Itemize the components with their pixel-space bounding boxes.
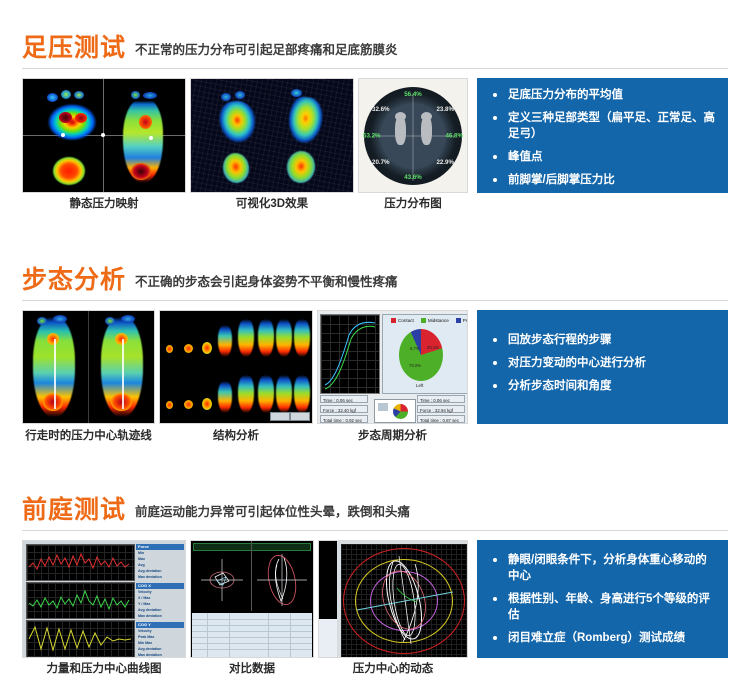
section-2-row: 行走时的压力中心轨迹线: [0, 310, 750, 425]
caption-cop-dynamics: 压力中心的动态: [318, 660, 468, 676]
pie-left-caption: Left: [416, 383, 423, 388]
bullet-item: 对压力变动的中心进行分析: [493, 355, 718, 371]
feature-list-gait: 回放步态行程的步骤 对压力变动的中心进行分析 分析步态时间和角度: [477, 310, 728, 424]
caption-static-pressure-map: 静态压力映射: [22, 195, 186, 211]
legend-midstance: Midstance: [421, 318, 449, 323]
section-vestibular-test: 前庭测试 前庭运动能力异常可引起体位性头晕，跌倒和头痛: [0, 484, 750, 658]
info-left-force: Force : 32.40 kgf: [320, 405, 368, 413]
bullet-item: 静眼/闭眼条件下，分析身体重心移动的中心: [493, 552, 718, 584]
dial-label-top-left: 32.6%: [372, 106, 390, 113]
bullet-item: 峰值点: [493, 149, 718, 165]
image-static-pressure-map[interactable]: [22, 78, 186, 193]
table-header-force: Force: [136, 544, 184, 550]
bullet-item: 回放步态行程的步骤: [493, 332, 718, 348]
table-row-label: Avg deviation: [136, 569, 161, 573]
image-force-cop-curves[interactable]: Force Min Max Avg Avg deviation Max devi…: [22, 540, 186, 658]
caption-cop-trajectory: 行走时的压力中心轨迹线: [22, 427, 155, 443]
image-structure-analysis[interactable]: [159, 310, 313, 424]
dial-label-left: 53.2%: [363, 132, 381, 139]
pie-left-midstance: 73.2%: [409, 363, 421, 368]
legend-propulsion: Propulsion: [456, 318, 468, 323]
section-3-header: 前庭测试 前庭运动能力异常可引起体位性头晕，跌倒和头痛: [0, 484, 750, 524]
table-row-label: Max deviation: [136, 653, 162, 657]
section-3-row: Force Min Max Avg Avg deviation Max devi…: [0, 540, 750, 658]
image-pressure-distribution[interactable]: 56.4% 43.6% 53.2% 46.8% 32.6% 23.8% 20.7…: [358, 78, 468, 193]
image-cop-dynamics[interactable]: [318, 540, 468, 658]
pie-left-contact: 20.1%: [427, 345, 439, 350]
section-1-header: 足压测试 不正常的压力分布可引起足部疼痛和足底筋膜炎: [0, 22, 750, 62]
caption-comparison-data: 对比数据: [190, 660, 314, 676]
table-row-label: Max deviation: [136, 614, 162, 618]
table-row-label: Min: [136, 551, 144, 555]
pie-left-propulsion: 6.7%: [410, 346, 420, 351]
feature-list-vestibular: 静眼/闭眼条件下，分析身体重心移动的中心 根据性别、年龄、身高进行5个等级的评估…: [477, 540, 728, 658]
thumbnail-preview[interactable]: [374, 399, 416, 423]
table-header-cogy: COG Y: [136, 622, 184, 628]
image-cop-trajectory[interactable]: [22, 310, 155, 424]
table-header-cogx: COG X: [136, 583, 184, 589]
section-foot-pressure: 足压测试 不正常的压力分布可引起足部疼痛和足底筋膜炎: [0, 22, 750, 193]
section-gait-analysis: 步态分析 不正确的步态会引起身体姿势不平衡和慢性疼痛: [0, 254, 750, 425]
section-1-divider: [22, 68, 728, 69]
section-2-divider: [22, 300, 728, 301]
table-row-label: X / Max: [136, 596, 150, 600]
caption-structure-analysis: 结构分析: [159, 427, 313, 443]
info-left-time: Time : 0.06 sec: [320, 395, 368, 403]
section-1-title: 足压测试: [22, 34, 126, 62]
table-row-label: Velocity: [136, 629, 152, 633]
table-row-label: Velocity: [136, 590, 152, 594]
image-comparison-data[interactable]: [190, 540, 314, 658]
bullet-item: 前脚掌/后脚掌压力比: [493, 172, 718, 188]
bullet-item: 根据性别、年龄、身高进行5个等级的评估: [493, 591, 718, 623]
section-3-divider: [22, 530, 728, 531]
section-3-subtitle: 前庭运动能力异常可引起体位性头晕，跌倒和头痛: [135, 502, 410, 524]
section-2-subtitle: 不正确的步态会引起身体姿势不平衡和慢性疼痛: [135, 272, 398, 294]
bullet-item: 分析步态时间和角度: [493, 378, 718, 394]
dial-label-right: 46.8%: [445, 132, 463, 139]
dial-label-bottom-right: 22.9%: [436, 159, 454, 166]
dial-label-bottom-left: 20.7%: [372, 159, 390, 166]
table-row-label: Min Max: [136, 641, 152, 645]
image-3d-visualization[interactable]: [190, 78, 354, 193]
section-1-subtitle: 不正常的压力分布可引起足部疼痛和足底筋膜炎: [135, 40, 398, 62]
caption-gait-cycle-analysis: 步态周期分析: [317, 427, 468, 443]
caption-3d-visualization: 可视化3D效果: [190, 195, 354, 211]
bullet-item: 足底压力分布的平均值: [493, 87, 718, 103]
bullet-item: 闭目难立症（Romberg）测试成绩: [493, 630, 718, 646]
page-root: 足压测试 不正常的压力分布可引起足部疼痛和足底筋膜炎: [0, 0, 750, 695]
table-row-label: Peak Max: [136, 635, 154, 639]
section-2-title: 步态分析: [22, 266, 126, 294]
table-row-label: Max: [136, 557, 145, 561]
caption-pressure-distribution: 压力分布图: [358, 195, 468, 211]
section-1-row: 静态压力映射 可视化3D效果: [0, 78, 750, 193]
table-row-label: Avg deviation: [136, 647, 161, 651]
dial-label-bottom: 43.6%: [404, 174, 422, 181]
info-right-time: Time : 0.06 sec: [417, 395, 465, 403]
info-right-force: Force : 32.94 kgf: [417, 405, 465, 413]
section-2-header: 步态分析 不正确的步态会引起身体姿势不平衡和慢性疼痛: [0, 254, 750, 294]
table-row-label: Avg: [136, 563, 145, 567]
pie-chart-left: [399, 329, 443, 381]
info-right-total: Total time : 0.87 sec: [417, 415, 465, 423]
legend-contact: Contact: [391, 318, 414, 323]
table-row-label: Avg deviation: [136, 608, 161, 612]
table-row-label: Max deviation: [136, 575, 162, 579]
image-gait-cycle-analysis[interactable]: Contact Midstance Propulsion 20.1% 73.2%…: [317, 310, 468, 424]
caption-force-cop-curves: 力量和压力中心曲线图: [22, 660, 186, 676]
feature-list-foot-pressure: 足底压力分布的平均值 定义三种足部类型（扁平足、正常足、高足弓） 峰值点 前脚掌…: [477, 78, 728, 193]
gait-pie-legend: Contact Midstance Propulsion: [391, 318, 468, 323]
dial-label-top-right: 23.8%: [436, 106, 454, 113]
info-left-total: Total time : 0.92 sec: [320, 415, 368, 423]
section-3-title: 前庭测试: [22, 496, 126, 524]
dial-label-top: 56.4%: [404, 91, 422, 98]
table-row-label: Y / Max: [136, 602, 150, 606]
bullet-item: 定义三种足部类型（扁平足、正常足、高足弓）: [493, 110, 718, 142]
